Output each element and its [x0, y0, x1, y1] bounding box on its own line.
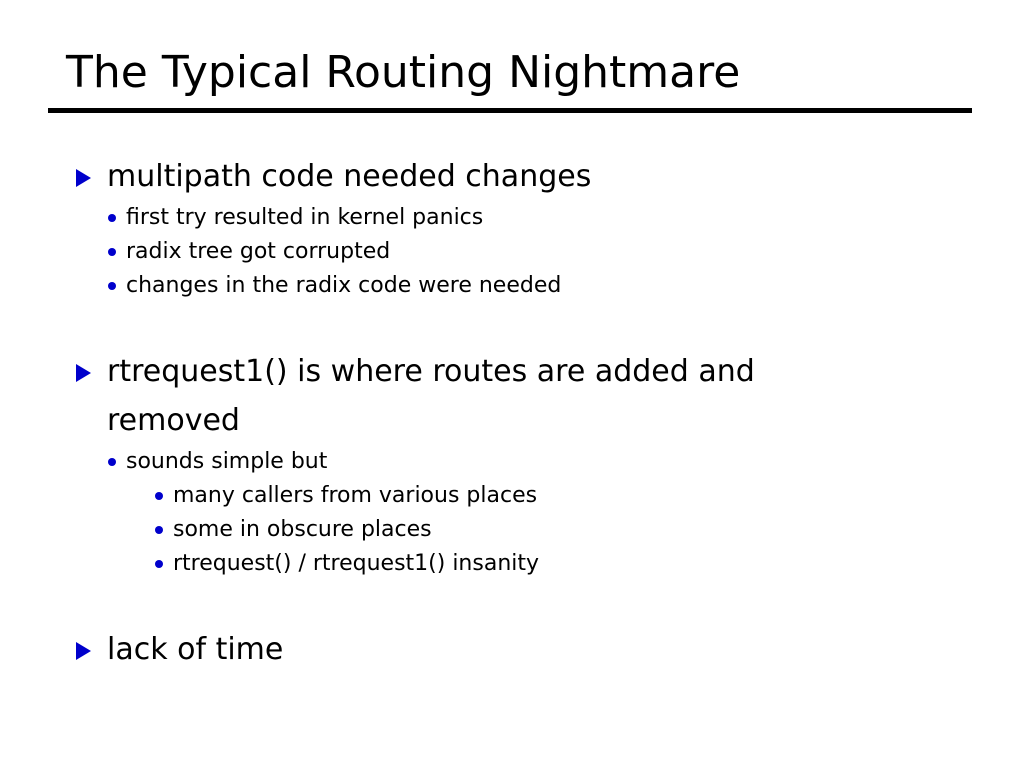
dot-bullet-icon: [155, 492, 163, 500]
dot-bullet-icon: [155, 560, 163, 568]
triangle-bullet-icon: [76, 364, 91, 382]
bullet-level3-label: some in obscure places: [173, 517, 432, 542]
dot-bullet-icon: [108, 282, 116, 290]
slide-title-block: The Typical Routing Nightmare: [48, 46, 972, 113]
bullet-level2: changes in the radix code were needed: [0, 269, 1024, 303]
dot-bullet-icon: [108, 214, 116, 222]
bullet-level3-label: many callers from various places: [173, 483, 537, 508]
bullet-level1: rtrequest1() is where routes are added a…: [0, 347, 1024, 445]
bullet-level1-label: rtrequest1() is where routes are added a…: [107, 354, 755, 438]
dot-bullet-icon: [108, 458, 116, 466]
page-title: The Typical Routing Nightmare: [48, 46, 972, 100]
bullet-level1: lack of time: [0, 625, 1024, 674]
bullet-level3: some in obscure places: [0, 513, 1024, 547]
bullet-level2-label: radix tree got corrupted: [126, 239, 390, 264]
triangle-bullet-icon: [76, 642, 91, 660]
slide-canvas: The Typical Routing Nightmare multipath …: [0, 0, 1024, 768]
bullet-level2: first try resulted in kernel panics: [0, 201, 1024, 235]
bullet-level2: sounds simple but: [0, 445, 1024, 479]
bullet-level2-label: first try resulted in kernel panics: [126, 205, 483, 230]
bullet-level1: multipath code needed changes: [0, 152, 1024, 201]
bullet-block: rtrequest1() is where routes are added a…: [0, 347, 1024, 581]
bullet-level3: rtrequest() / rtrequest1() insanity: [0, 547, 1024, 581]
bullet-level3-label: rtrequest() / rtrequest1() insanity: [173, 551, 539, 576]
bullet-level1-label: multipath code needed changes: [107, 159, 591, 194]
bullet-block: multipath code needed changes first try …: [0, 152, 1024, 303]
title-divider: [48, 108, 972, 113]
dot-bullet-icon: [108, 248, 116, 256]
dot-bullet-icon: [155, 526, 163, 534]
bullet-level3: many callers from various places: [0, 479, 1024, 513]
bullet-level2: radix tree got corrupted: [0, 235, 1024, 269]
bullet-block: lack of time: [0, 625, 1024, 674]
bullet-level2-label: sounds simple but: [126, 449, 327, 474]
triangle-bullet-icon: [76, 169, 91, 187]
bullet-level2-label: changes in the radix code were needed: [126, 273, 561, 298]
bullet-level1-label: lack of time: [107, 632, 283, 667]
slide-body: multipath code needed changes first try …: [0, 152, 1024, 674]
